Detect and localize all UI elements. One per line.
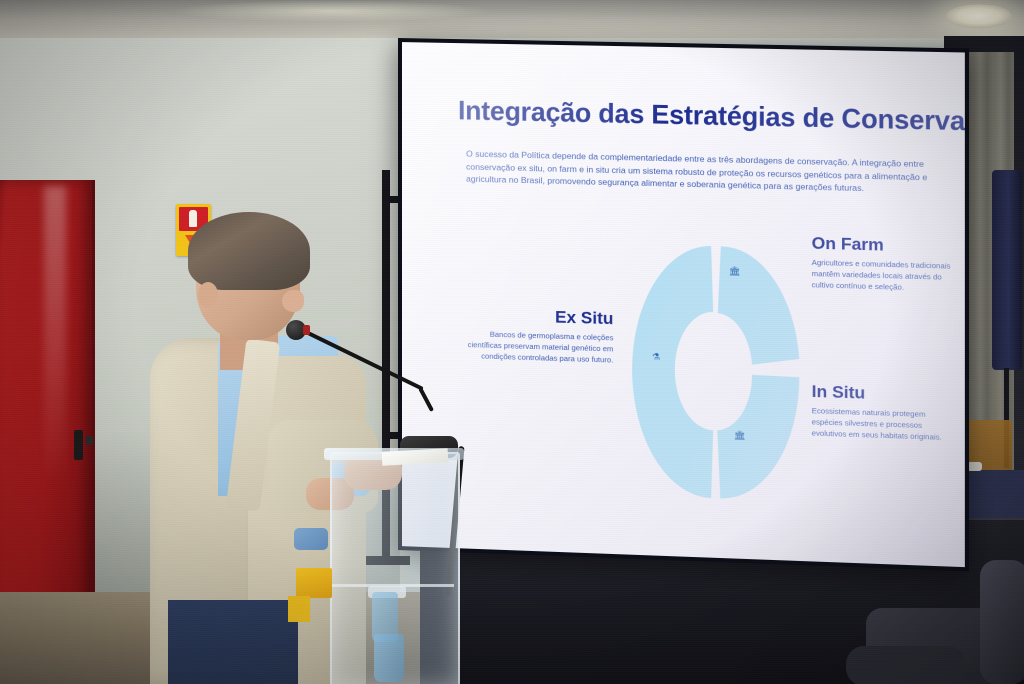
- presentation-room-photo: Integração das Estratégias de Conservaçã…: [0, 0, 1024, 684]
- ex-situ-icon: ⚗: [647, 352, 665, 362]
- chair-back: [980, 560, 1024, 684]
- projection-screen: Integração das Estratégias de Conservaçã…: [398, 38, 969, 571]
- donut-segment-on-farm: [718, 246, 800, 366]
- extinguisher-icon: [189, 210, 197, 227]
- presentation-slide: Integração das Estratégias de Conservaçã…: [402, 42, 965, 567]
- label-on-farm: On Farm Agricultores e comunidades tradi…: [812, 234, 953, 295]
- slide-body-text: O sucesso da Política depende da complem…: [466, 148, 927, 197]
- water-bottle-lower: [374, 634, 404, 682]
- label-ex-situ-text: Bancos de germoplasma e coleções científ…: [460, 327, 613, 366]
- door-reflection: [44, 186, 66, 486]
- chair-armrest: [846, 646, 966, 684]
- donut-chart: 🏛 ⚗ 🏛: [618, 226, 812, 515]
- label-in-situ: In Situ Ecossistemas naturais protegem e…: [812, 383, 957, 444]
- blue-object: [294, 528, 328, 550]
- ceiling-light: [946, 4, 1012, 28]
- speaker-ear: [198, 282, 218, 308]
- label-in-situ-title: In Situ: [812, 383, 957, 407]
- label-in-situ-text: Ecossistemas naturais protegem espécies …: [812, 405, 957, 444]
- in-situ-icon: 🏛: [731, 431, 749, 441]
- speaker-hair: [188, 212, 310, 290]
- slide-title: Integração das Estratégias de Conservaçã…: [458, 95, 938, 136]
- label-on-farm-title: On Farm: [812, 234, 953, 257]
- speaker-lower-body: [168, 600, 298, 684]
- ceiling: [0, 0, 1024, 42]
- yellow-sign-lower-2: [288, 596, 310, 622]
- door-lock-icon: [86, 436, 93, 445]
- ceiling-glow: [170, 0, 490, 22]
- donut-segment-ex-situ: [632, 244, 713, 498]
- microphone-ring: [303, 325, 310, 335]
- door-handle[interactable]: [74, 430, 83, 460]
- yellow-sign-lower: [296, 568, 332, 598]
- speaker-nose: [282, 290, 304, 312]
- label-ex-situ: Ex Situ Bancos de germoplasma e coleções…: [460, 306, 613, 367]
- donut-chart-svg: [618, 226, 812, 515]
- label-ex-situ-title: Ex Situ: [460, 306, 613, 329]
- label-on-farm-text: Agricultores e comunidades tradicionais …: [812, 256, 953, 295]
- on-farm-icon: 🏛: [725, 267, 743, 277]
- pa-speaker-column: [992, 170, 1022, 370]
